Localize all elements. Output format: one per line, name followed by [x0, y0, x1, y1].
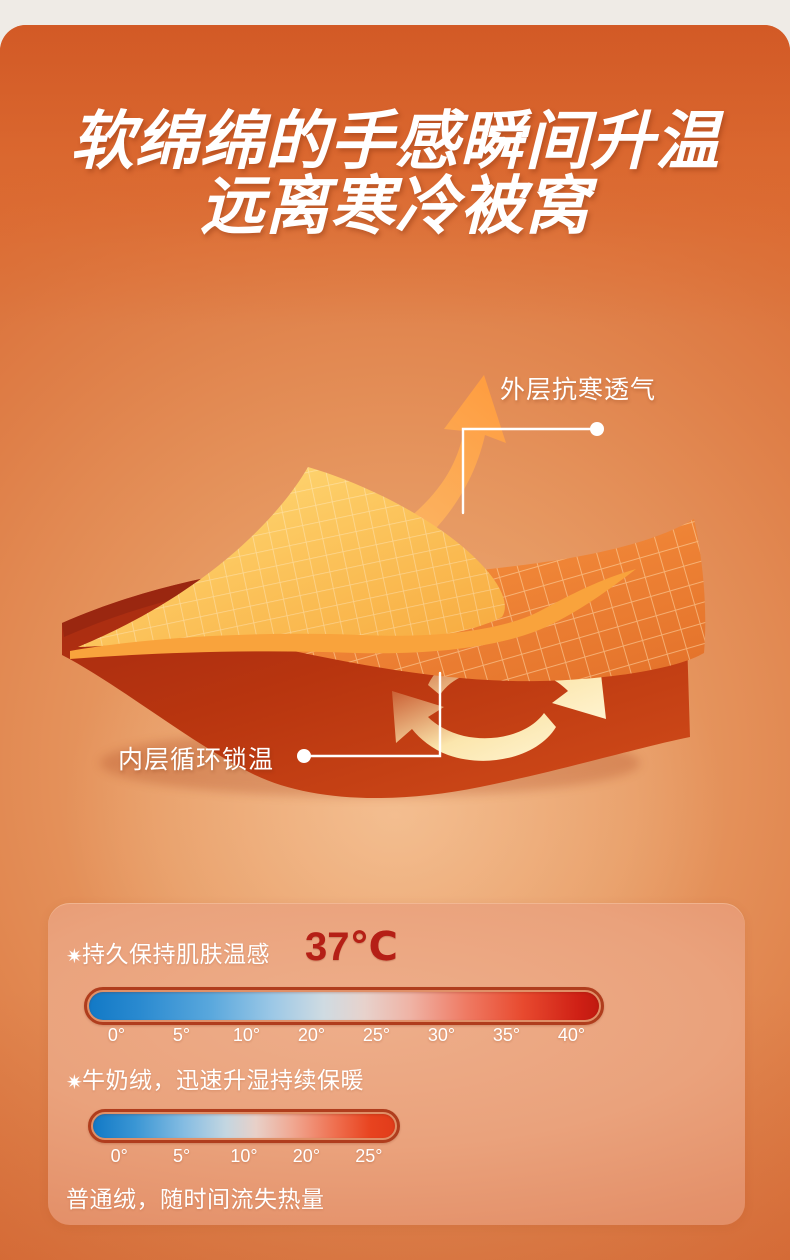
callout-inner-layer-label: 内层循环锁温 [118, 740, 274, 776]
card-footnote: 普通绒，随时间流失热量 [66, 1180, 325, 1214]
tick-label: 30° [409, 1025, 474, 1046]
tick-label: 10° [214, 1025, 279, 1046]
temperature-gradient-bar-secondary [88, 1109, 400, 1143]
tick-label: 35° [474, 1025, 539, 1046]
tick-label: 0° [88, 1146, 150, 1167]
callout-outer-layer-label: 外层抗寒透气 [500, 370, 656, 406]
tick-label: 20° [279, 1025, 344, 1046]
tick-label: 25° [338, 1146, 400, 1167]
tick-label: 0° [84, 1025, 149, 1046]
bar-fill-2 [93, 1114, 395, 1138]
page-background: 软绵绵的手感瞬间升温 远离寒冷被窝 [0, 0, 790, 1260]
bullet-star-icon-1: ✷ [66, 947, 83, 967]
tick-label: 5° [150, 1146, 212, 1167]
callout-outer-leader-line [455, 405, 615, 515]
temperature-gradient-bar-primary [84, 987, 604, 1025]
callout-inner-leader-line [290, 665, 470, 775]
bullet-star-icon-2: ✷ [66, 1073, 83, 1093]
row-label-milk-fleece: 牛奶绒，迅速升湿持续保暖 [82, 1061, 364, 1095]
temperature-scale-secondary: 0° 5° 10° 20° 25° [88, 1146, 400, 1167]
tick-label: 25° [344, 1025, 409, 1046]
tick-label: 40° [539, 1025, 604, 1046]
page-title-line1: 软绵绵的手感瞬间升温 [70, 105, 720, 177]
bar-fill-1 [89, 992, 599, 1020]
temperature-scale-primary: 0° 5° 10° 20° 25° 30° 35° 40° [84, 1025, 604, 1046]
temperature-value: 37℃ [305, 924, 398, 970]
tick-label: 10° [213, 1146, 275, 1167]
tick-label: 20° [275, 1146, 337, 1167]
row-label-skin-warmth: 持久保持肌肤温感 [82, 935, 270, 969]
tick-label: 5° [149, 1025, 214, 1046]
page-title-line2: 远离寒冷被窝 [0, 174, 790, 239]
page-title: 软绵绵的手感瞬间升温 远离寒冷被窝 [0, 109, 790, 240]
promo-panel: 软绵绵的手感瞬间升温 远离寒冷被窝 [0, 25, 790, 1260]
